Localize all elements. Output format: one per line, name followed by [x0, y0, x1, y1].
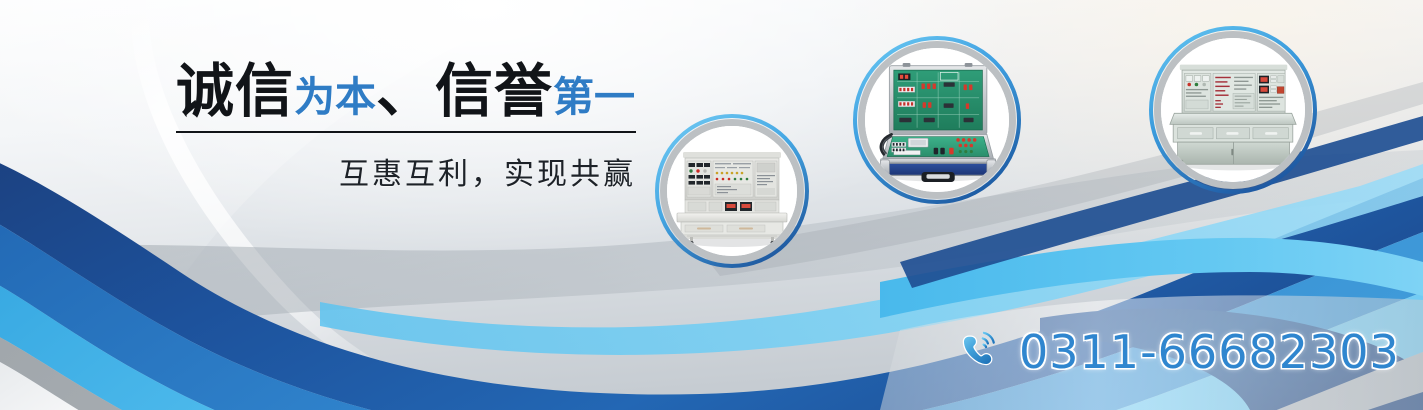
headline-divider	[176, 131, 636, 133]
headline-part-2: 为本	[294, 74, 376, 120]
headline-block: 诚信为本、信誉第一 互惠互利，实现共赢	[176, 62, 644, 193]
phone-number[interactable]: 0311-66682303	[1019, 325, 1400, 379]
portable-electronics-training-case-illustration	[865, 48, 1009, 192]
electrical-experiment-console-illustration	[1161, 38, 1305, 182]
headline-part-5: 第一	[553, 74, 635, 120]
phone-ringing-icon	[955, 327, 1005, 377]
product-photo-1	[667, 126, 797, 256]
subtitle: 互惠互利，实现共赢	[176, 149, 636, 193]
product-photo-2	[865, 48, 1009, 192]
headline-part-3: 、	[376, 59, 435, 124]
headline-part-4: 信誉	[435, 59, 553, 124]
headline-part-1: 诚信	[176, 59, 294, 124]
page-title: 诚信为本、信誉第一	[176, 62, 644, 122]
electrical-training-workbench-illustration	[667, 126, 797, 256]
contact-block[interactable]: 0311-66682303	[955, 325, 1400, 379]
promo-banner: 诚信为本、信誉第一 互惠互利，实现共赢	[0, 0, 1423, 410]
product-circle-2[interactable]	[851, 34, 1023, 206]
product-photo-3	[1161, 38, 1305, 182]
product-circle-1[interactable]	[653, 112, 811, 270]
product-circle-3[interactable]	[1147, 24, 1319, 196]
